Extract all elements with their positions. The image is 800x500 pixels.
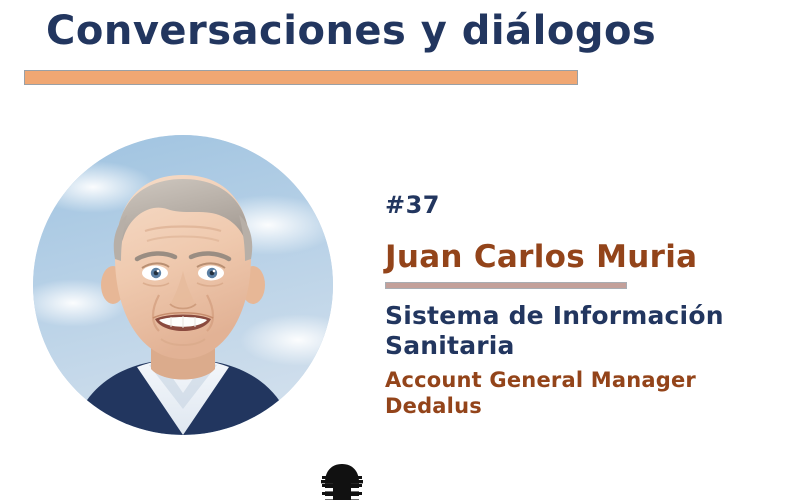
header-accent-rule	[24, 70, 578, 85]
guest-name: Juan Carlos Muria	[385, 240, 795, 274]
episode-number: #37	[385, 192, 795, 218]
episode-topic: Sistema de Información Sanitaria	[385, 301, 795, 360]
guest-name-accent-rule	[385, 282, 627, 289]
guest-company: Dedalus	[385, 394, 795, 419]
guest-portrait-avatar	[33, 135, 333, 435]
portrait-illustration	[33, 135, 333, 435]
guest-role: Account General Manager	[385, 368, 795, 393]
microphone-icon	[320, 462, 364, 500]
microphone-glyph	[320, 462, 364, 500]
page-title: Conversaciones y diálogos	[46, 8, 656, 54]
episode-info-block: #37 Juan Carlos Muria Sistema de Informa…	[385, 192, 795, 419]
